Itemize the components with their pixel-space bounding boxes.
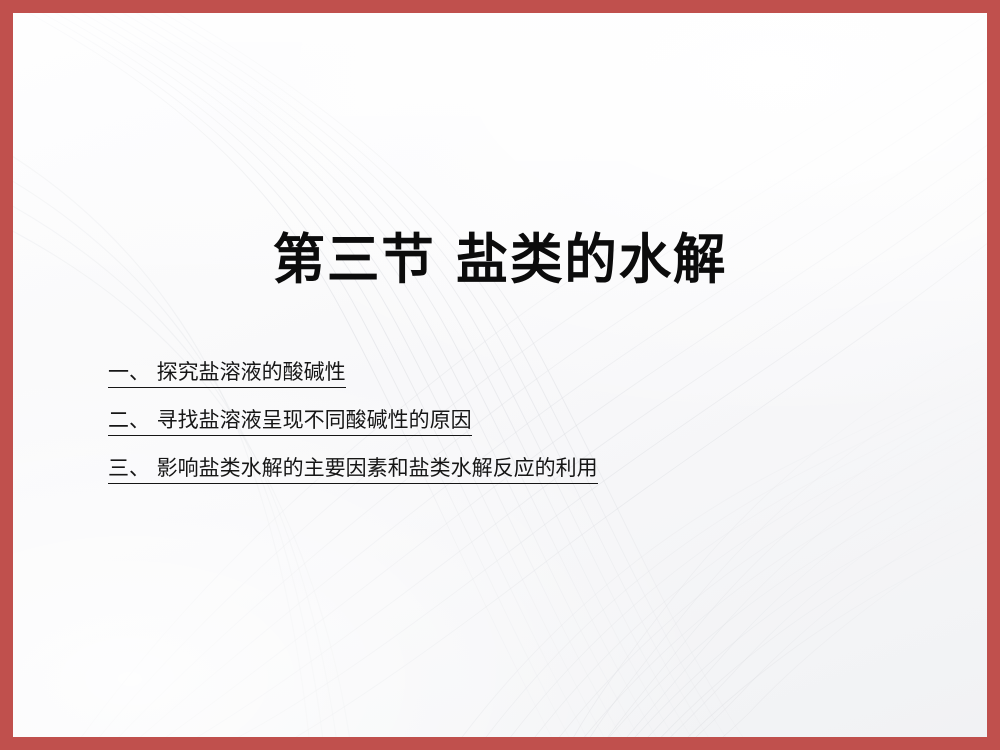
outline-item-label: 一、 探究盐溶液的酸碱性 xyxy=(108,361,346,388)
slide: 第三节 盐类的水解 一、 探究盐溶液的酸碱性 二、 寻找盐溶液呈现不同酸碱性的原… xyxy=(0,0,1000,750)
outline-item-2[interactable]: 二、 寻找盐溶液呈现不同酸碱性的原因 xyxy=(108,409,828,436)
outline-item-label: 二、 寻找盐溶液呈现不同酸碱性的原因 xyxy=(108,409,472,436)
slide-title: 第三节 盐类的水解 xyxy=(28,229,973,291)
outline-list: 一、 探究盐溶液的酸碱性 二、 寻找盐溶液呈现不同酸碱性的原因 三、 影响盐类水… xyxy=(108,361,828,484)
outline-item-label: 三、 影响盐类水解的主要因素和盐类水解反应的利用 xyxy=(108,457,598,484)
slide-canvas: 第三节 盐类的水解 一、 探究盐溶液的酸碱性 二、 寻找盐溶液呈现不同酸碱性的原… xyxy=(13,13,987,737)
outline-item-1[interactable]: 一、 探究盐溶液的酸碱性 xyxy=(108,361,828,388)
outline-item-3[interactable]: 三、 影响盐类水解的主要因素和盐类水解反应的利用 xyxy=(108,457,828,484)
